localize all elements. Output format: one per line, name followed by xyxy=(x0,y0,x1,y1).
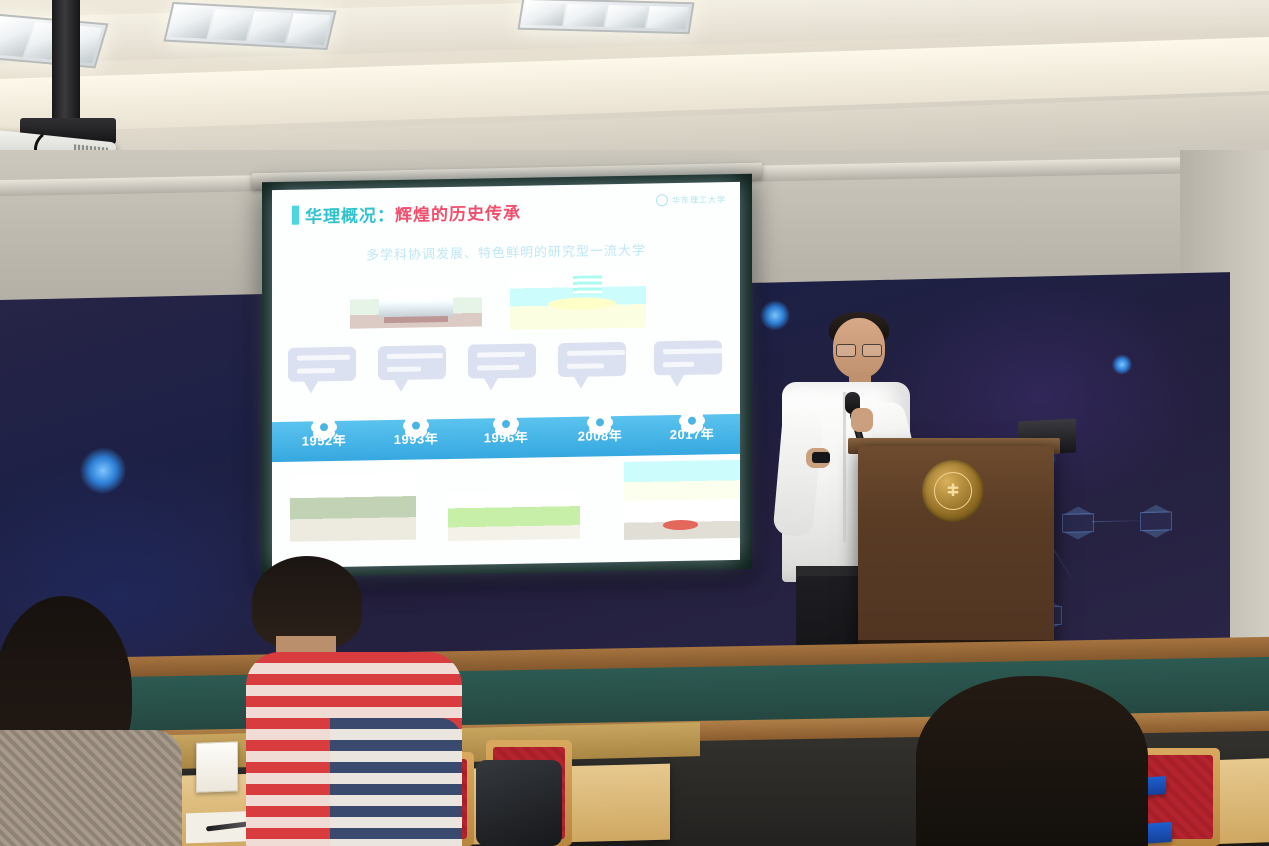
milestone-bubble xyxy=(468,343,536,378)
slide-header: 华理概况：辉煌的历史传承 华东理工大学 xyxy=(272,182,740,236)
title-accent-bar xyxy=(292,206,299,225)
seal-inner-mark: ⵐ xyxy=(934,472,972,510)
attendee-woman-plaid-body xyxy=(0,730,182,846)
university-logo: 华东理工大学 xyxy=(656,193,726,206)
timeline-year: 2017年 xyxy=(650,423,734,443)
speaker-hand-right xyxy=(851,408,873,432)
logo-ring-icon xyxy=(656,194,668,206)
hexagon-outline xyxy=(1062,513,1094,533)
hex-link-line xyxy=(1092,520,1140,522)
hexagon-outline xyxy=(1140,511,1172,531)
milestone-bubble xyxy=(378,345,446,380)
ceiling-light-panel xyxy=(517,0,694,34)
presentation-clicker xyxy=(812,452,830,463)
hex-glow-node xyxy=(1112,354,1132,374)
shirt-placket xyxy=(843,392,846,542)
campus-gate-photo xyxy=(350,274,482,328)
campus-plaza-photo xyxy=(624,460,740,540)
backpack xyxy=(476,760,562,846)
ceiling-light-panel xyxy=(163,2,336,50)
attendee-foreground xyxy=(916,676,1148,846)
slide-title: 华理概况：辉煌的历史传承 xyxy=(305,199,521,228)
attendee-man-polo-lower xyxy=(330,718,462,846)
milestone-bubble xyxy=(654,340,722,375)
timeline-year: 1952年 xyxy=(282,429,366,449)
projector-mount-pole xyxy=(52,0,80,128)
timeline-year: 2008年 xyxy=(558,425,642,445)
campus-road-photo xyxy=(290,474,416,542)
name-card xyxy=(196,741,238,792)
attendee-man-striped-polo xyxy=(252,556,362,648)
milestone-bubble xyxy=(558,342,626,377)
milestone-bubble xyxy=(288,347,356,382)
campus-building-photo xyxy=(448,471,580,541)
hex-glow-node xyxy=(760,300,790,331)
timeline-year: 1993年 xyxy=(374,428,458,448)
presentation-slide: 华理概况：辉煌的历史传承 华东理工大学 多学科协调发展、特色鲜明的研究型一流大学… xyxy=(272,182,740,568)
history-timeline: 1952年 1993年 1996年 2008年 2017年 xyxy=(272,414,740,462)
logo-text: 华东理工大学 xyxy=(672,194,726,206)
campus-lake-photo xyxy=(510,272,646,330)
eyeglasses-icon xyxy=(836,344,882,355)
timeline-year: 1996年 xyxy=(464,426,548,446)
hex-glow-node xyxy=(80,447,126,494)
university-seal: ⵐ xyxy=(922,460,984,522)
slide-subtitle: 多学科协调发展、特色鲜明的研究型一流大学 xyxy=(272,238,740,265)
lecture-hall-scene: 2019年1 青年 论坛” 坛 2019年5月27日-5月29日 华理概况：辉煌… xyxy=(0,0,1269,846)
